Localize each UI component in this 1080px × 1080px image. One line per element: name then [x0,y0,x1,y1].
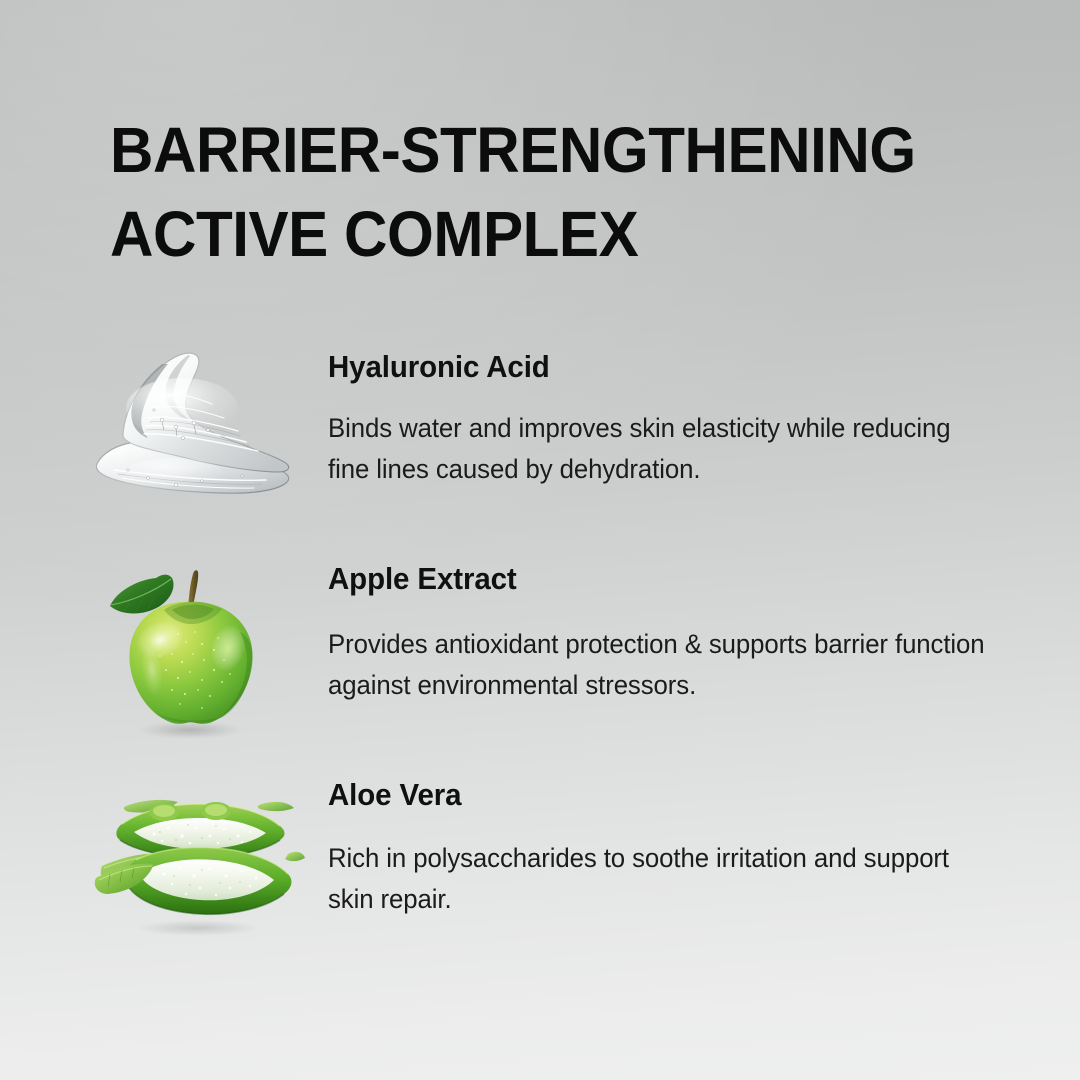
green-apple-image [90,562,305,737]
ingredient-copy: Aloe Vera Rich in polysaccharides to soo… [328,778,1028,920]
ingredient-infographic: BARRIER-STRENGTHENING ACTIVE COMPLEX [0,0,1080,1080]
clear-gel-swatch-image [90,350,305,525]
ingredient-description: Provides antioxidant protection & suppor… [328,624,997,706]
page-title: BARRIER-STRENGTHENING ACTIVE COMPLEX [110,108,937,277]
ingredient-description: Rich in polysaccharides to soothe irrita… [328,838,997,920]
ingredient-name: Aloe Vera [328,778,993,812]
ingredient-name: Apple Extract [328,562,993,596]
ingredient-copy: Apple Extract Provides antioxidant prote… [328,562,1028,706]
ingredient-copy: Hyaluronic Acid Binds water and improves… [328,350,1028,490]
ingredient-name: Hyaluronic Acid [328,350,993,384]
ingredient-description: Binds water and improves skin elasticity… [328,408,997,490]
aloe-vera-slices-image [90,778,305,953]
